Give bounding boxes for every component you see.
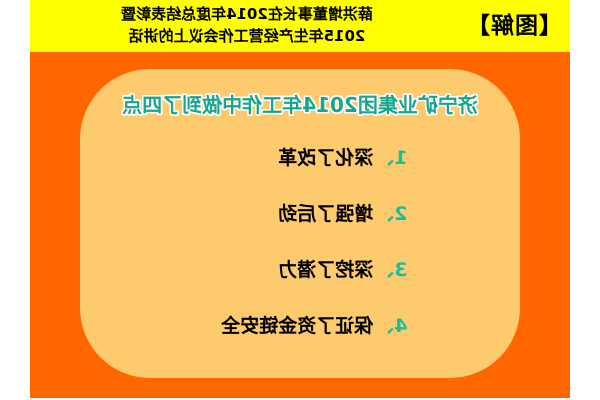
list-item-label: 增强了后劲 (278, 204, 373, 225)
list-item: 4、 保证了资金链安全 (193, 316, 408, 337)
poster-canvas: 【图解】 薛洪增董事长在2014年度总结表彰暨 2015年生产经营工作会议上的讲… (30, 0, 570, 398)
list-item-index: 2、 (373, 204, 407, 225)
list-item: 1、 深化了改革 (193, 148, 408, 169)
header-title-line-2: 2015年生产经营工作会议上的讲话 (129, 26, 366, 48)
header-title-block: 薛洪增董事长在2014年度总结表彰暨 2015年生产经营工作会议上的讲话 (38, 4, 456, 48)
content-card: 济宁矿业集团2014年工作中做到了四点 1、 深化了改革 2、 增强了后劲 3、… (80, 69, 520, 378)
header-band: 【图解】 薛洪增董事长在2014年度总结表彰暨 2015年生产经营工作会议上的讲… (30, 0, 570, 52)
card-title: 济宁矿业集团2014年工作中做到了四点 (106, 93, 494, 117)
points-list: 1、 深化了改革 2、 增强了后劲 3、 深挖了潜力 4、 保证了资金链安全 (106, 121, 494, 360)
body-panel: 济宁矿业集团2014年工作中做到了四点 1、 深化了改革 2、 增强了后劲 3、… (30, 52, 570, 398)
list-item-label: 深挖了潜力 (278, 260, 373, 281)
list-item-index: 3、 (373, 260, 407, 281)
list-item-index: 4、 (373, 316, 407, 337)
list-item: 3、 深挖了潜力 (193, 260, 408, 281)
header-bracket-label: 【图解】 (456, 15, 564, 38)
list-item: 2、 增强了后劲 (193, 204, 408, 225)
header-title-line-1: 薛洪增董事长在2014年度总结表彰暨 (121, 4, 373, 26)
list-item-index: 1、 (373, 148, 407, 169)
list-item-label: 深化了改革 (278, 148, 373, 169)
list-item-label: 保证了资金链安全 (221, 316, 373, 337)
